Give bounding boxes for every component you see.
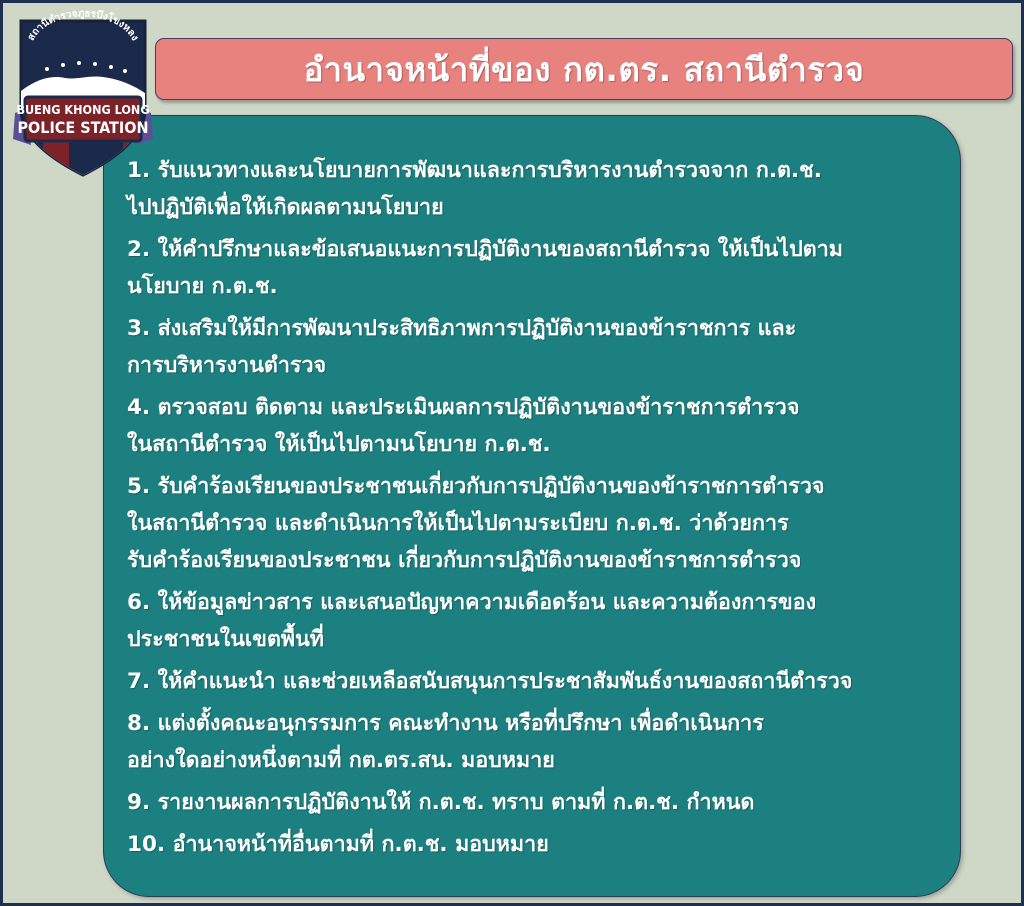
content-panel: 1. รับแนวทางและนโยบายการพัฒนาและการบริหา… bbox=[103, 115, 961, 897]
list-item: 1. รับแนวทางและนโยบายการพัฒนาและการบริหา… bbox=[127, 152, 950, 226]
list-item: 4. ตรวจสอบ ติดตาม และประเมินผลการปฏิบัติ… bbox=[127, 389, 950, 463]
logo-nameplate: BUENG KHONG LONG POLICE STATION bbox=[16, 97, 149, 141]
logo-line2: POLICE STATION bbox=[17, 118, 148, 137]
police-station-logo: สถานีตำรวจภูธรบึงโขงหลง BUENG KHONG LONG… bbox=[7, 5, 159, 183]
page-title: อำนาจหน้าที่ของ กต.ตร. สถานีตำรวจ bbox=[304, 53, 865, 86]
list-item: 6. ให้ข้อมูลข่าวสาร และเสนอปัญหาความเดือ… bbox=[127, 584, 950, 658]
header-banner: อำนาจหน้าที่ของ กต.ตร. สถานีตำรวจ bbox=[155, 38, 1013, 100]
list-item: 10. อำนาจหน้าที่อื่นตามที่ ก.ต.ช. มอบหมา… bbox=[127, 826, 950, 863]
list-item: 2. ให้คำปรึกษาและข้อเสนอแนะการปฏิบัติงาน… bbox=[127, 231, 950, 305]
list-item: 9. รายงานผลการปฏิบัติงานให้ ก.ต.ช. ทราบ … bbox=[127, 784, 950, 821]
slide-page: อำนาจหน้าที่ของ กต.ตร. สถานีตำรวจ 1. รับ… bbox=[3, 3, 1021, 903]
list-item: 7. ให้คำแนะนำ และช่วยเหลือสนับสนุนการประ… bbox=[127, 663, 950, 700]
logo-line1: BUENG KHONG LONG bbox=[16, 102, 149, 117]
list-item: 5. รับคำร้องเรียนของประชาชนเกี่ยวกับการป… bbox=[127, 468, 950, 579]
list-item: 8. แต่งตั้งคณะอนุกรรมการ คณะทำงาน หรือที… bbox=[127, 705, 950, 779]
duty-list: 1. รับแนวทางและนโยบายการพัฒนาและการบริหา… bbox=[127, 152, 950, 868]
list-item: 3. ส่งเสริมให้มีการพัฒนาประสิทธิภาพการปฏ… bbox=[127, 310, 950, 384]
